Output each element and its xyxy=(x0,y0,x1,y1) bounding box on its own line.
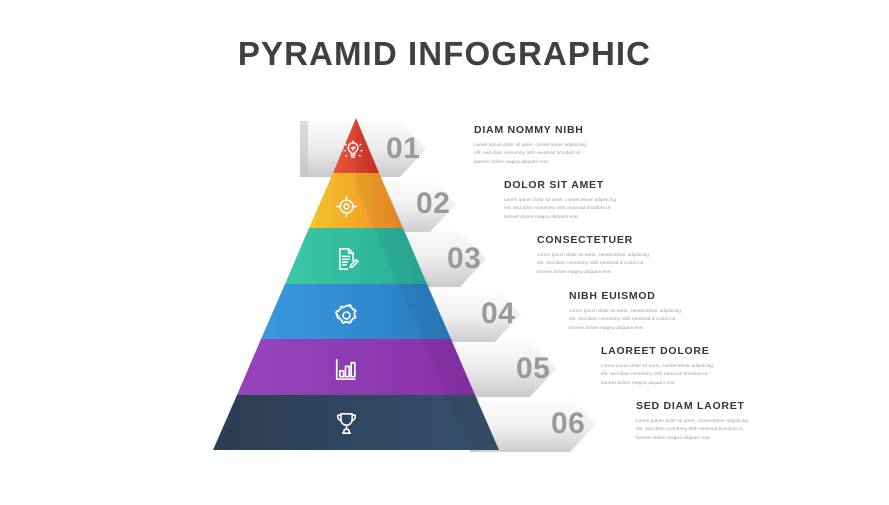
infographic-canvas: PYRAMID INFOGRAPHIC xyxy=(0,0,889,500)
info-block-05: LAOREET DOLORE Lorem ipsum dolor sit ame… xyxy=(601,346,719,388)
banner-number-05: 05 xyxy=(516,354,550,384)
info-block-06: SED DIAM LAORET Lorem ipsum dolor sit am… xyxy=(636,401,754,443)
info-heading-05: LAOREET DOLORE xyxy=(601,346,719,358)
banner-number-01: 01 xyxy=(386,134,420,164)
pyramid-diagram xyxy=(0,0,889,500)
banner-number-03: 03 xyxy=(447,244,481,274)
info-heading-02: DOLOR SIT AMET xyxy=(504,180,622,192)
info-block-02: DOLOR SIT AMET Lorem ipsum dolor sit ame… xyxy=(504,180,622,222)
info-body-06: Lorem ipsum dolor sit amet, consectetuer… xyxy=(636,417,754,443)
info-body-04: Lorem ipsum dolor sit amet, consectetuer… xyxy=(569,307,687,333)
info-body-02: Lorem ipsum dolor sit amet, consectetuer… xyxy=(504,196,622,222)
info-block-03: CONSECTETUER Lorem ipsum dolor sit amet,… xyxy=(537,235,655,277)
banner-number-04: 04 xyxy=(481,299,515,329)
info-body-05: Lorem ipsum dolor sit amet, consectetuer… xyxy=(601,362,719,388)
info-block-04: NIBH EUISMOD Lorem ipsum dolor sit amet,… xyxy=(569,291,687,333)
info-heading-03: CONSECTETUER xyxy=(537,235,655,247)
info-heading-04: NIBH EUISMOD xyxy=(569,291,687,303)
info-body-03: Lorem ipsum dolor sit amet, consectetuer… xyxy=(537,251,655,277)
banner-number-02: 02 xyxy=(416,189,450,219)
info-body-01: Lorem ipsum dolor sit amet, consectetuer… xyxy=(474,141,592,167)
info-heading-06: SED DIAM LAORET xyxy=(636,401,754,413)
banner-number-06: 06 xyxy=(551,409,585,439)
info-heading-01: DIAM NOMMY NIBH xyxy=(474,125,592,137)
info-block-01: DIAM NOMMY NIBH Lorem ipsum dolor sit am… xyxy=(474,125,592,167)
